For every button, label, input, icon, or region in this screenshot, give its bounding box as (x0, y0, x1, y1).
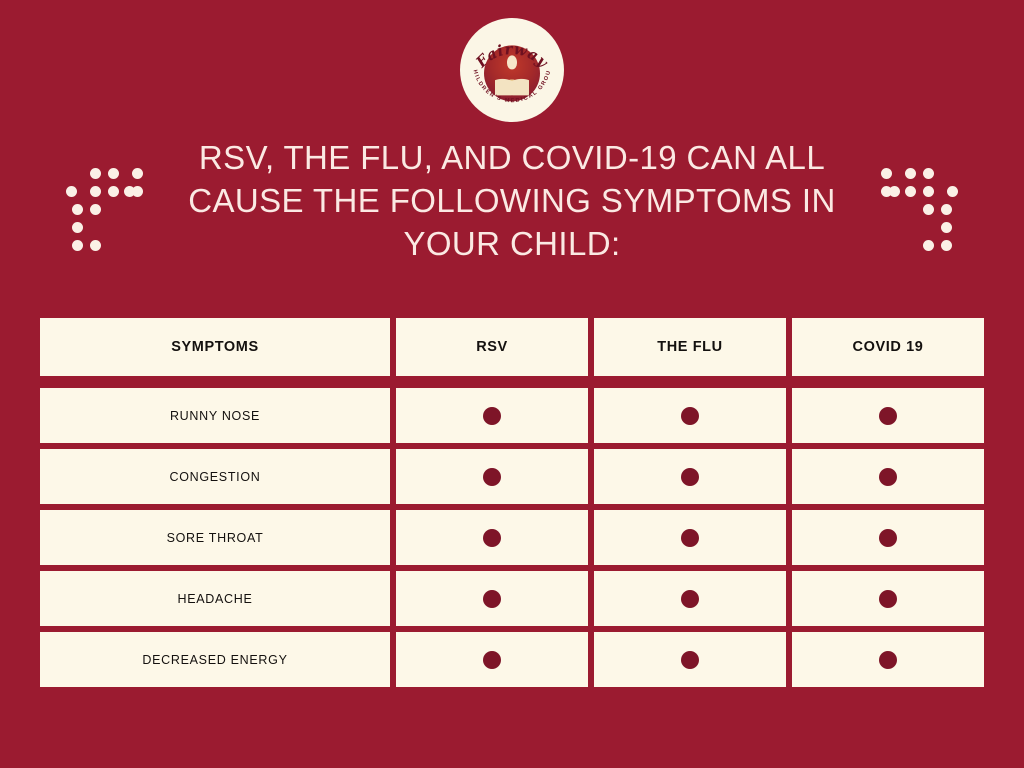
symptom-marker-icon (879, 651, 897, 669)
symptom-marker-icon (879, 529, 897, 547)
symptom-label: CONGESTION (40, 449, 390, 504)
column-header-covid: COVID 19 (792, 318, 984, 376)
symptom-marker-icon (483, 651, 501, 669)
symptom-marker-icon (681, 651, 699, 669)
cell-covid (792, 632, 984, 687)
cell-rsv (396, 632, 588, 687)
decorative-dot (941, 222, 952, 233)
decorative-dot (132, 186, 143, 197)
decorative-dot (947, 186, 958, 197)
decorative-dot (90, 168, 101, 179)
symptom-label: SORE THROAT (40, 510, 390, 565)
symptom-marker-icon (681, 468, 699, 486)
decorative-dot (72, 204, 83, 215)
decorative-dot (66, 186, 77, 197)
cell-covid (792, 388, 984, 443)
logo-script-text: Fairway (472, 40, 553, 72)
column-header-flu: THE FLU (594, 318, 786, 376)
decorative-dot (72, 222, 83, 233)
table-header-row: SYMPTOMS RSV THE FLU COVID 19 (40, 318, 984, 376)
decorative-dot (132, 168, 143, 179)
table-row: SORE THROAT (40, 510, 984, 565)
decorative-dot (881, 168, 892, 179)
cell-rsv (396, 510, 588, 565)
decorative-dot (905, 168, 916, 179)
symptom-marker-icon (879, 590, 897, 608)
decorative-dot (108, 186, 119, 197)
symptoms-comparison-table: SYMPTOMS RSV THE FLU COVID 19 RUNNY NOSE… (40, 318, 984, 687)
dot-cluster-left-icon (66, 168, 136, 248)
decorative-dot (941, 240, 952, 251)
decorative-dot (923, 186, 934, 197)
symptom-label: RUNNY NOSE (40, 388, 390, 443)
symptom-marker-icon (879, 407, 897, 425)
symptom-marker-icon (681, 407, 699, 425)
decorative-dot (90, 240, 101, 251)
table-row: CONGESTION (40, 449, 984, 504)
decorative-dot (108, 168, 119, 179)
cell-rsv (396, 571, 588, 626)
logo-badge: Fairway CHILDREN'S MEDICAL GROUP (460, 18, 564, 122)
decorative-dot (923, 168, 934, 179)
decorative-dot (923, 204, 934, 215)
cell-covid (792, 510, 984, 565)
table-row: DECREASED ENERGY (40, 632, 984, 687)
decorative-dot (923, 240, 934, 251)
decorative-dot (90, 204, 101, 215)
decorative-dot (941, 204, 952, 215)
cell-flu (594, 632, 786, 687)
cell-covid (792, 449, 984, 504)
symptom-marker-icon (483, 590, 501, 608)
symptom-marker-icon (681, 529, 699, 547)
symptom-marker-icon (681, 590, 699, 608)
symptom-marker-icon (879, 468, 897, 486)
table-row: HEADACHE (40, 571, 984, 626)
cell-flu (594, 449, 786, 504)
cell-flu (594, 571, 786, 626)
symptom-marker-icon (483, 468, 501, 486)
symptom-marker-icon (483, 529, 501, 547)
symptom-label: DECREASED ENERGY (40, 632, 390, 687)
cell-flu (594, 388, 786, 443)
cell-covid (792, 571, 984, 626)
decorative-dot (90, 186, 101, 197)
brand-logo: Fairway CHILDREN'S MEDICAL GROUP (460, 18, 564, 122)
cell-rsv (396, 449, 588, 504)
logo-text-svg: Fairway CHILDREN'S MEDICAL GROUP (460, 18, 564, 122)
column-header-symptoms: SYMPTOMS (40, 318, 390, 376)
dot-cluster-right-icon (888, 168, 958, 248)
column-header-rsv: RSV (396, 318, 588, 376)
decorative-dot (881, 186, 892, 197)
page-title: RSV, THE FLU, AND COVID-19 CAN ALL CAUSE… (152, 136, 872, 265)
cell-rsv (396, 388, 588, 443)
decorative-dot (905, 186, 916, 197)
decorative-dot (72, 240, 83, 251)
symptom-marker-icon (483, 407, 501, 425)
symptom-label: HEADACHE (40, 571, 390, 626)
cell-flu (594, 510, 786, 565)
table-row: RUNNY NOSE (40, 388, 984, 443)
